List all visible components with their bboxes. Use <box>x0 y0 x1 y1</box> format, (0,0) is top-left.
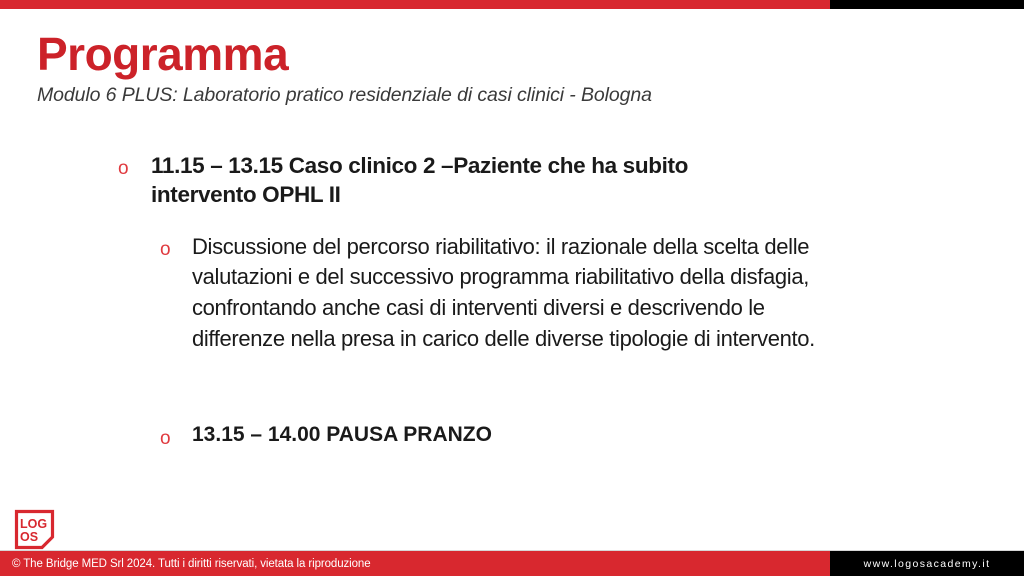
bullet-marker-icon: o <box>118 152 151 178</box>
spacer <box>0 355 1024 421</box>
footer-bar: © The Bridge MED Srl 2024. Tutti i dirit… <box>0 551 1024 576</box>
list-item: o 13.15 – 14.00 PAUSA PRANZO <box>0 421 1024 448</box>
list-item-label: 13.15 – 14.00 PAUSA PRANZO <box>192 421 492 448</box>
list-item-label: Discussione del percorso riabilitativo: … <box>192 232 852 355</box>
footer-website-link[interactable]: www.logosacademy.it <box>864 558 991 570</box>
bullet-marker-icon: o <box>160 421 192 448</box>
top-accent-bar-black-segment <box>830 0 1024 9</box>
footer-website-area: www.logosacademy.it <box>830 551 1024 576</box>
svg-text:OS: OS <box>20 530 38 544</box>
top-accent-bar <box>0 0 1024 9</box>
list-item: o 11.15 – 13.15 Caso clinico 2 –Paziente… <box>0 152 1024 210</box>
bullet-marker-icon: o <box>160 232 192 259</box>
footer-copyright-area: © The Bridge MED Srl 2024. Tutti i dirit… <box>0 551 830 576</box>
list-item-label: 11.15 – 13.15 Caso clinico 2 –Paziente c… <box>151 152 791 210</box>
logos-logo: LOG OS <box>14 509 55 550</box>
spacer <box>0 210 1024 232</box>
title-block: Programma Modulo 6 PLUS: Laboratorio pra… <box>37 30 977 108</box>
page-title: Programma <box>37 30 977 78</box>
page-subtitle: Modulo 6 PLUS: Laboratorio pratico resid… <box>37 84 977 107</box>
svg-text:LOG: LOG <box>20 517 47 531</box>
list-item: o Discussione del percorso riabilitativo… <box>0 232 1024 355</box>
top-accent-bar-red-segment <box>0 0 830 9</box>
agenda-list: o 11.15 – 13.15 Caso clinico 2 –Paziente… <box>0 152 1024 448</box>
footer-copyright-text: © The Bridge MED Srl 2024. Tutti i dirit… <box>0 558 371 570</box>
